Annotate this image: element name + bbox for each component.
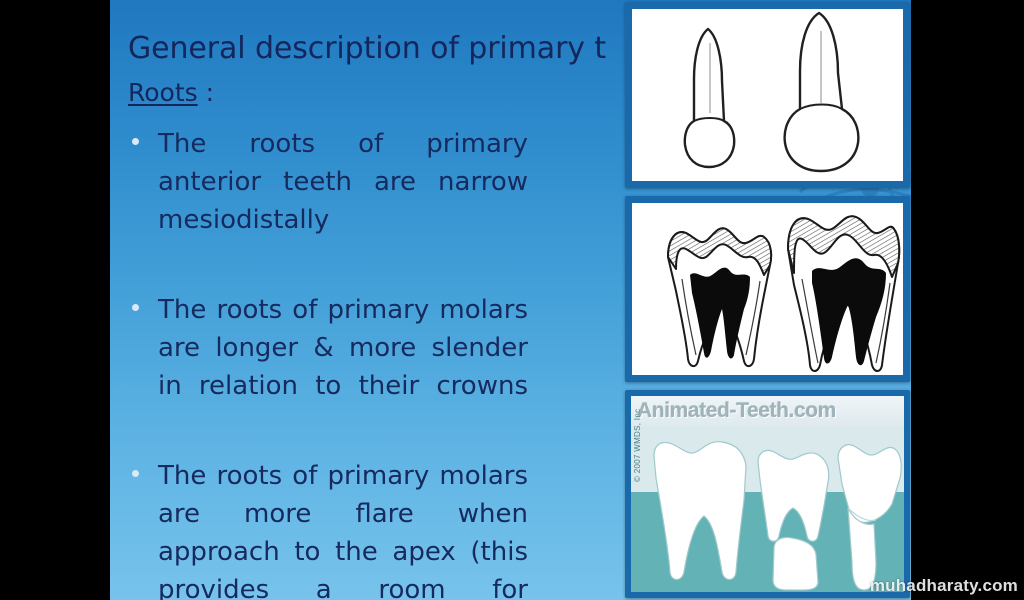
anterior-teeth-drawing-icon [632, 9, 903, 181]
slide-text-column: General description of primary t Roots :… [118, 0, 628, 600]
list-item: The roots of primary molars are more fla… [118, 457, 630, 600]
eruption-teeth-drawing-icon [631, 396, 904, 592]
bullet-text: The roots of primary molars are more fla… [158, 457, 528, 600]
figure-eruption-sequence-canvas: Animated-Teeth.com © 2007 WMDS, Inc [631, 396, 904, 592]
list-item: The roots of primary molars are longer &… [118, 291, 630, 443]
figure-molar-cross-sections-canvas [632, 203, 903, 375]
site-watermark: muhadharaty.com [870, 576, 1018, 596]
figure-eruption-sequence: Animated-Teeth.com © 2007 WMDS, Inc [625, 390, 910, 598]
slide-image-column: Animated-Teeth.com © 2007 WMDS, Inc [615, 0, 911, 600]
molar-cross-section-drawing-icon [632, 203, 903, 375]
list-item: The roots of primary anterior teeth are … [118, 125, 630, 277]
bullet-list: The roots of primary anterior teeth are … [118, 125, 630, 600]
subheading-suffix: : [198, 78, 214, 107]
bullet-dot-icon [132, 304, 139, 311]
bullet-dot-icon [132, 138, 139, 145]
bullet-text: The roots of primary anterior teeth are … [158, 125, 528, 277]
presentation-slide: General description of primary t Roots :… [110, 0, 911, 600]
subheading-label: Roots [128, 78, 198, 107]
letterbox-viewport: General description of primary t Roots :… [0, 0, 1024, 600]
figure-molar-cross-sections [625, 196, 910, 382]
bullet-text: The roots of primary molars are longer &… [158, 291, 528, 443]
figure-anterior-teeth [625, 2, 910, 188]
bullet-dot-icon [132, 470, 139, 477]
figure-anterior-teeth-canvas [632, 9, 903, 181]
subheading: Roots : [128, 80, 214, 106]
